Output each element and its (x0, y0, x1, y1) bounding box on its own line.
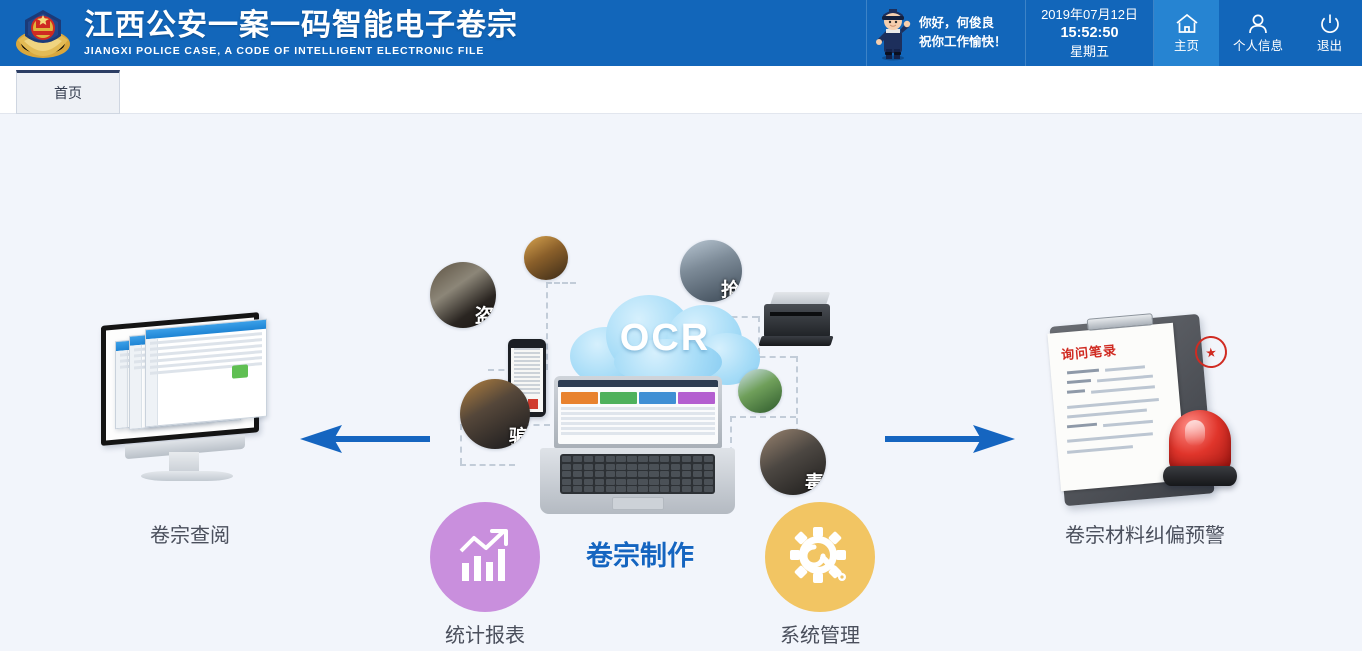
app-title-cn: 江西公安一案一码智能电子卷宗 (84, 9, 518, 43)
brand-text: 江西公安一案一码智能电子卷宗 JIANGXI POLICE CASE, A CO… (84, 9, 518, 58)
home-icon (1174, 12, 1200, 36)
laptop-icon (540, 376, 735, 521)
window-front (145, 319, 267, 428)
node-label-statistics-report[interactable]: 统计报表 (405, 619, 565, 648)
laptop-trackpad (612, 497, 664, 510)
node-label-correction-alert[interactable]: 卷宗材料纠偏预警 (1020, 519, 1270, 548)
scanner-foot (758, 336, 833, 346)
nav-profile-label: 个人信息 (1233, 39, 1283, 54)
monitor-windows-icon[interactable] (95, 319, 285, 494)
scanner-body (764, 304, 830, 338)
nav-logout-button[interactable]: 退出 (1297, 0, 1362, 66)
laptop-tiles (558, 387, 718, 404)
tab-bar: 首页 (0, 66, 1362, 114)
siren-highlight (1185, 420, 1205, 446)
nav-home-button[interactable]: 主页 (1154, 0, 1219, 66)
node-label-system-management[interactable]: 系统管理 (740, 619, 900, 648)
drug-photo: 毒 (760, 429, 826, 495)
workspace-canvas: 卷宗查阅 OCR (0, 114, 1362, 651)
monitor-foot (141, 471, 233, 481)
header-spacer (518, 0, 866, 66)
clock-date: 2019年07月12日 (1041, 6, 1138, 24)
clock-weekday: 星期五 (1070, 43, 1109, 61)
tab-home-label: 首页 (54, 83, 82, 103)
evidence-photo-bullet (524, 236, 568, 280)
alarm-siren-icon (1163, 406, 1239, 496)
greeting-panel: 你好，何俊良 祝你工作愉快！ (866, 0, 1026, 66)
evidence-photo-scene (738, 369, 782, 413)
robbery-photo: 抢 (680, 240, 742, 302)
status-chip (232, 364, 248, 378)
robbery-photo-label: 抢 (721, 281, 740, 301)
fraud-photo-label: 骗 (509, 428, 528, 448)
laptop-keyboard (560, 454, 715, 494)
siren-base (1163, 466, 1237, 486)
police-badge-icon (14, 4, 72, 62)
ocr-cloud: OCR (570, 289, 760, 385)
power-icon (1317, 12, 1343, 36)
clock-time: 15:52:50 (1060, 24, 1118, 43)
siren-dome (1169, 410, 1231, 472)
greeting-line-1: 你好，何俊良 (919, 14, 1007, 33)
fraud-photo: 骗 (460, 379, 530, 449)
scanner-slot (770, 312, 822, 316)
laptop-screen (558, 380, 718, 444)
police-officer-avatar-icon (873, 5, 913, 61)
gear-wrench-icon[interactable] (765, 502, 875, 612)
scanner-icon (760, 292, 836, 356)
drug-photo-label: 毒 (805, 474, 824, 494)
greeting-text: 你好，何俊良 祝你工作愉快！ (919, 14, 1007, 52)
user-icon (1245, 12, 1271, 36)
brand: 江西公安一案一码智能电子卷宗 JIANGXI POLICE CASE, A CO… (0, 0, 518, 66)
window-body (146, 329, 266, 426)
node-label-case-creation[interactable]: 卷宗制作 (530, 534, 750, 573)
app-header: 江西公安一案一码智能电子卷宗 JIANGXI POLICE CASE, A CO… (0, 0, 1362, 66)
theft-photo-label: 盗 (475, 307, 494, 327)
nav-profile-button[interactable]: 个人信息 (1219, 0, 1297, 66)
node-label-case-review[interactable]: 卷宗查阅 (95, 519, 285, 548)
arrow-left (300, 419, 430, 464)
nav-logout-label: 退出 (1317, 39, 1342, 54)
theft-photo: 盗 (430, 262, 496, 328)
nav-home-label: 主页 (1174, 39, 1199, 54)
laptop-browser-bar (558, 380, 718, 387)
laptop-lid (554, 376, 722, 448)
laptop-content-rows (558, 404, 718, 440)
arrow-right (885, 419, 1015, 464)
laptop-deck (540, 448, 735, 514)
greeting-line-2: 祝你工作愉快！ (919, 33, 1007, 52)
app-title-en: JIANGXI POLICE CASE, A CODE OF INTELLIGE… (84, 44, 518, 58)
chart-growth-icon[interactable] (430, 502, 540, 612)
clipboard-siren-icon[interactable]: 询问笔录 ★ (1045, 314, 1245, 509)
clock-panel: 2019年07月12日 15:52:50 星期五 (1026, 0, 1154, 66)
ocr-label: OCR (570, 317, 760, 360)
tab-home[interactable]: 首页 (16, 70, 120, 114)
